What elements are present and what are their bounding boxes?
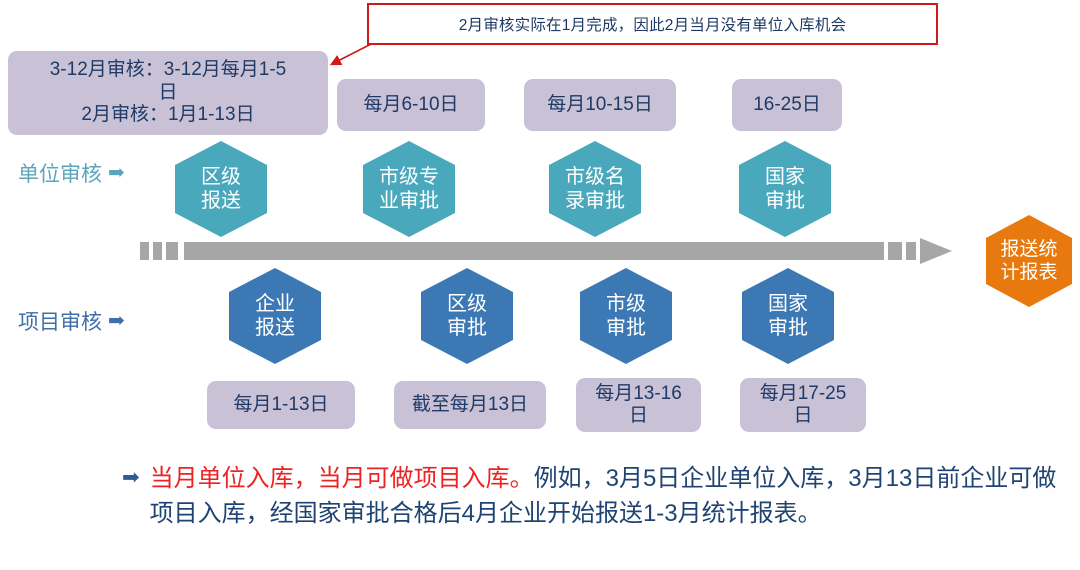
hex-project-2-line-1: 区级: [447, 292, 487, 316]
hex-unit-2-line-1: 市级专: [379, 165, 439, 189]
hex-unit-4-line-2: 审批: [765, 189, 805, 213]
top-label-3: 每月10-15日: [524, 79, 676, 131]
hex-project-3-line-2: 审批: [606, 316, 646, 340]
hex-unit-1-line-1: 区级: [201, 165, 241, 189]
hex-project-4: 国家 审批: [742, 268, 834, 364]
bottom-label-2: 截至每月13日: [394, 381, 546, 429]
hex-final-report-line-1: 报送统: [1000, 238, 1057, 261]
footer-note: ➡ 当月单位入库，当月可做项目入库。例如，3月5日企业单位入库，3月13日前企业…: [122, 462, 1067, 531]
row-label-unit-review-text: 单位审核: [18, 158, 102, 188]
hex-project-1-line-1: 企业: [255, 292, 295, 316]
top-label-3-line-1: 每月10-15日: [541, 94, 659, 116]
top-label-1: 3-12月审核：3-12月每月1-5 日 2月审核：1月1-13日: [8, 51, 328, 135]
row-label-unit-review: 单位审核 ➡: [18, 158, 125, 188]
bottom-label-3: 每月13-16 日: [576, 378, 701, 432]
hex-final-report: 报送统 计报表: [986, 215, 1072, 307]
bullet-arrow-icon: ➡: [122, 462, 140, 495]
row-label-project-review: 项目审核 ➡: [18, 306, 125, 336]
timeline-arrow: [140, 238, 980, 264]
row-label-project-review-text: 项目审核: [18, 306, 102, 336]
bottom-label-4: 每月17-25 日: [740, 378, 866, 432]
hex-unit-4-line-1: 国家: [765, 165, 805, 189]
hex-unit-3-line-1: 市级名: [565, 165, 625, 189]
hex-project-1: 企业 报送: [229, 268, 321, 364]
footer-highlight: 当月单位入库，当月可做项目入库。: [150, 465, 534, 492]
footer-text: 当月单位入库，当月可做项目入库。例如，3月5日企业单位入库，3月13日前企业可做…: [150, 462, 1067, 531]
top-label-1-line-1: 3-12月审核：3-12月每月1-5: [44, 59, 293, 81]
hex-project-4-line-2: 审批: [768, 316, 808, 340]
top-label-1-line-2: 日: [44, 82, 293, 104]
bottom-label-4-line-2: 日: [754, 405, 853, 427]
callout-arrow-icon: [320, 40, 380, 90]
hex-unit-2: 市级专 业审批: [363, 141, 455, 237]
hex-unit-4: 国家 审批: [739, 141, 831, 237]
hex-unit-2-line-2: 业审批: [379, 189, 439, 213]
slide-canvas: 2月审核实际在1月完成，因此2月当月没有单位入库机会 3-12月审核：3-12月…: [0, 0, 1080, 570]
bottom-label-3-line-2: 日: [589, 405, 688, 427]
hex-project-3-line-1: 市级: [606, 292, 646, 316]
bottom-label-1: 每月1-13日: [207, 381, 355, 429]
top-label-1-line-3: 2月审核：1月1-13日: [44, 104, 293, 126]
bottom-label-1-line-1: 每月1-13日: [227, 394, 334, 416]
bottom-label-4-line-1: 每月17-25: [754, 383, 853, 405]
hex-unit-3-line-2: 录审批: [565, 189, 625, 213]
arrow-right-icon: ➡: [108, 311, 125, 331]
hex-unit-1: 区级 报送: [175, 141, 267, 237]
top-label-4-line-1: 16-25日: [747, 94, 827, 116]
hex-final-report-line-2: 计报表: [1000, 261, 1057, 284]
bottom-label-2-line-1: 截至每月13日: [406, 394, 534, 416]
hex-project-2: 区级 审批: [421, 268, 513, 364]
hex-unit-1-line-2: 报送: [201, 189, 241, 213]
callout-text: 2月审核实际在1月完成，因此2月当月没有单位入库机会: [459, 13, 847, 35]
hex-project-2-line-2: 审批: [447, 316, 487, 340]
top-label-4: 16-25日: [732, 79, 842, 131]
hex-project-1-line-2: 报送: [255, 316, 295, 340]
hex-project-3: 市级 审批: [580, 268, 672, 364]
hex-project-4-line-1: 国家: [768, 292, 808, 316]
callout-box: 2月审核实际在1月完成，因此2月当月没有单位入库机会: [367, 3, 938, 45]
top-label-2-line-1: 每月6-10日: [357, 94, 464, 116]
hex-unit-3: 市级名 录审批: [549, 141, 641, 237]
arrow-right-icon: ➡: [108, 163, 125, 183]
bottom-label-3-line-1: 每月13-16: [589, 383, 688, 405]
